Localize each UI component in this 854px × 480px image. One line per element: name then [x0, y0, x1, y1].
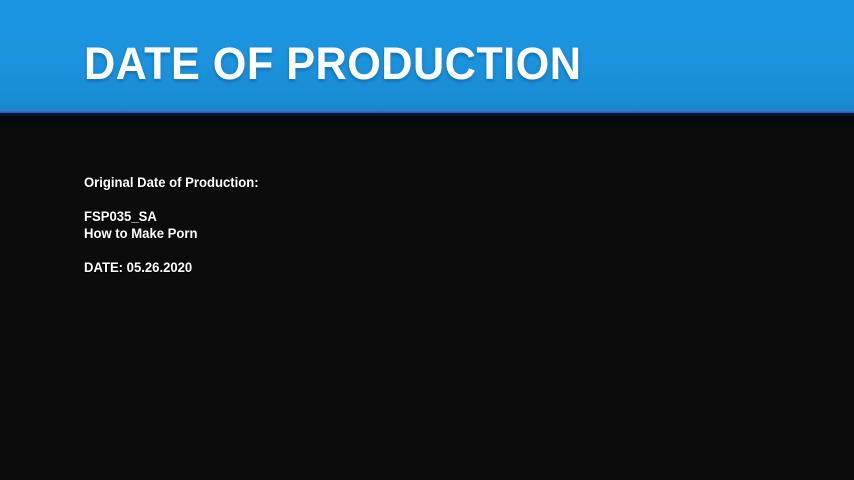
- header-fade-gradient: [0, 116, 854, 132]
- slide-body: Original Date of Production: FSP035_SA H…: [0, 132, 854, 480]
- slide-title: DATE OF PRODUCTION: [84, 38, 581, 90]
- slide-canvas: DATE OF PRODUCTION Original Date of Prod…: [0, 0, 854, 480]
- production-code: FSP035_SA: [84, 208, 157, 225]
- original-date-heading: Original Date of Production:: [84, 174, 259, 191]
- production-title: How to Make Porn: [84, 225, 198, 242]
- production-date: DATE: 05.26.2020: [84, 259, 192, 276]
